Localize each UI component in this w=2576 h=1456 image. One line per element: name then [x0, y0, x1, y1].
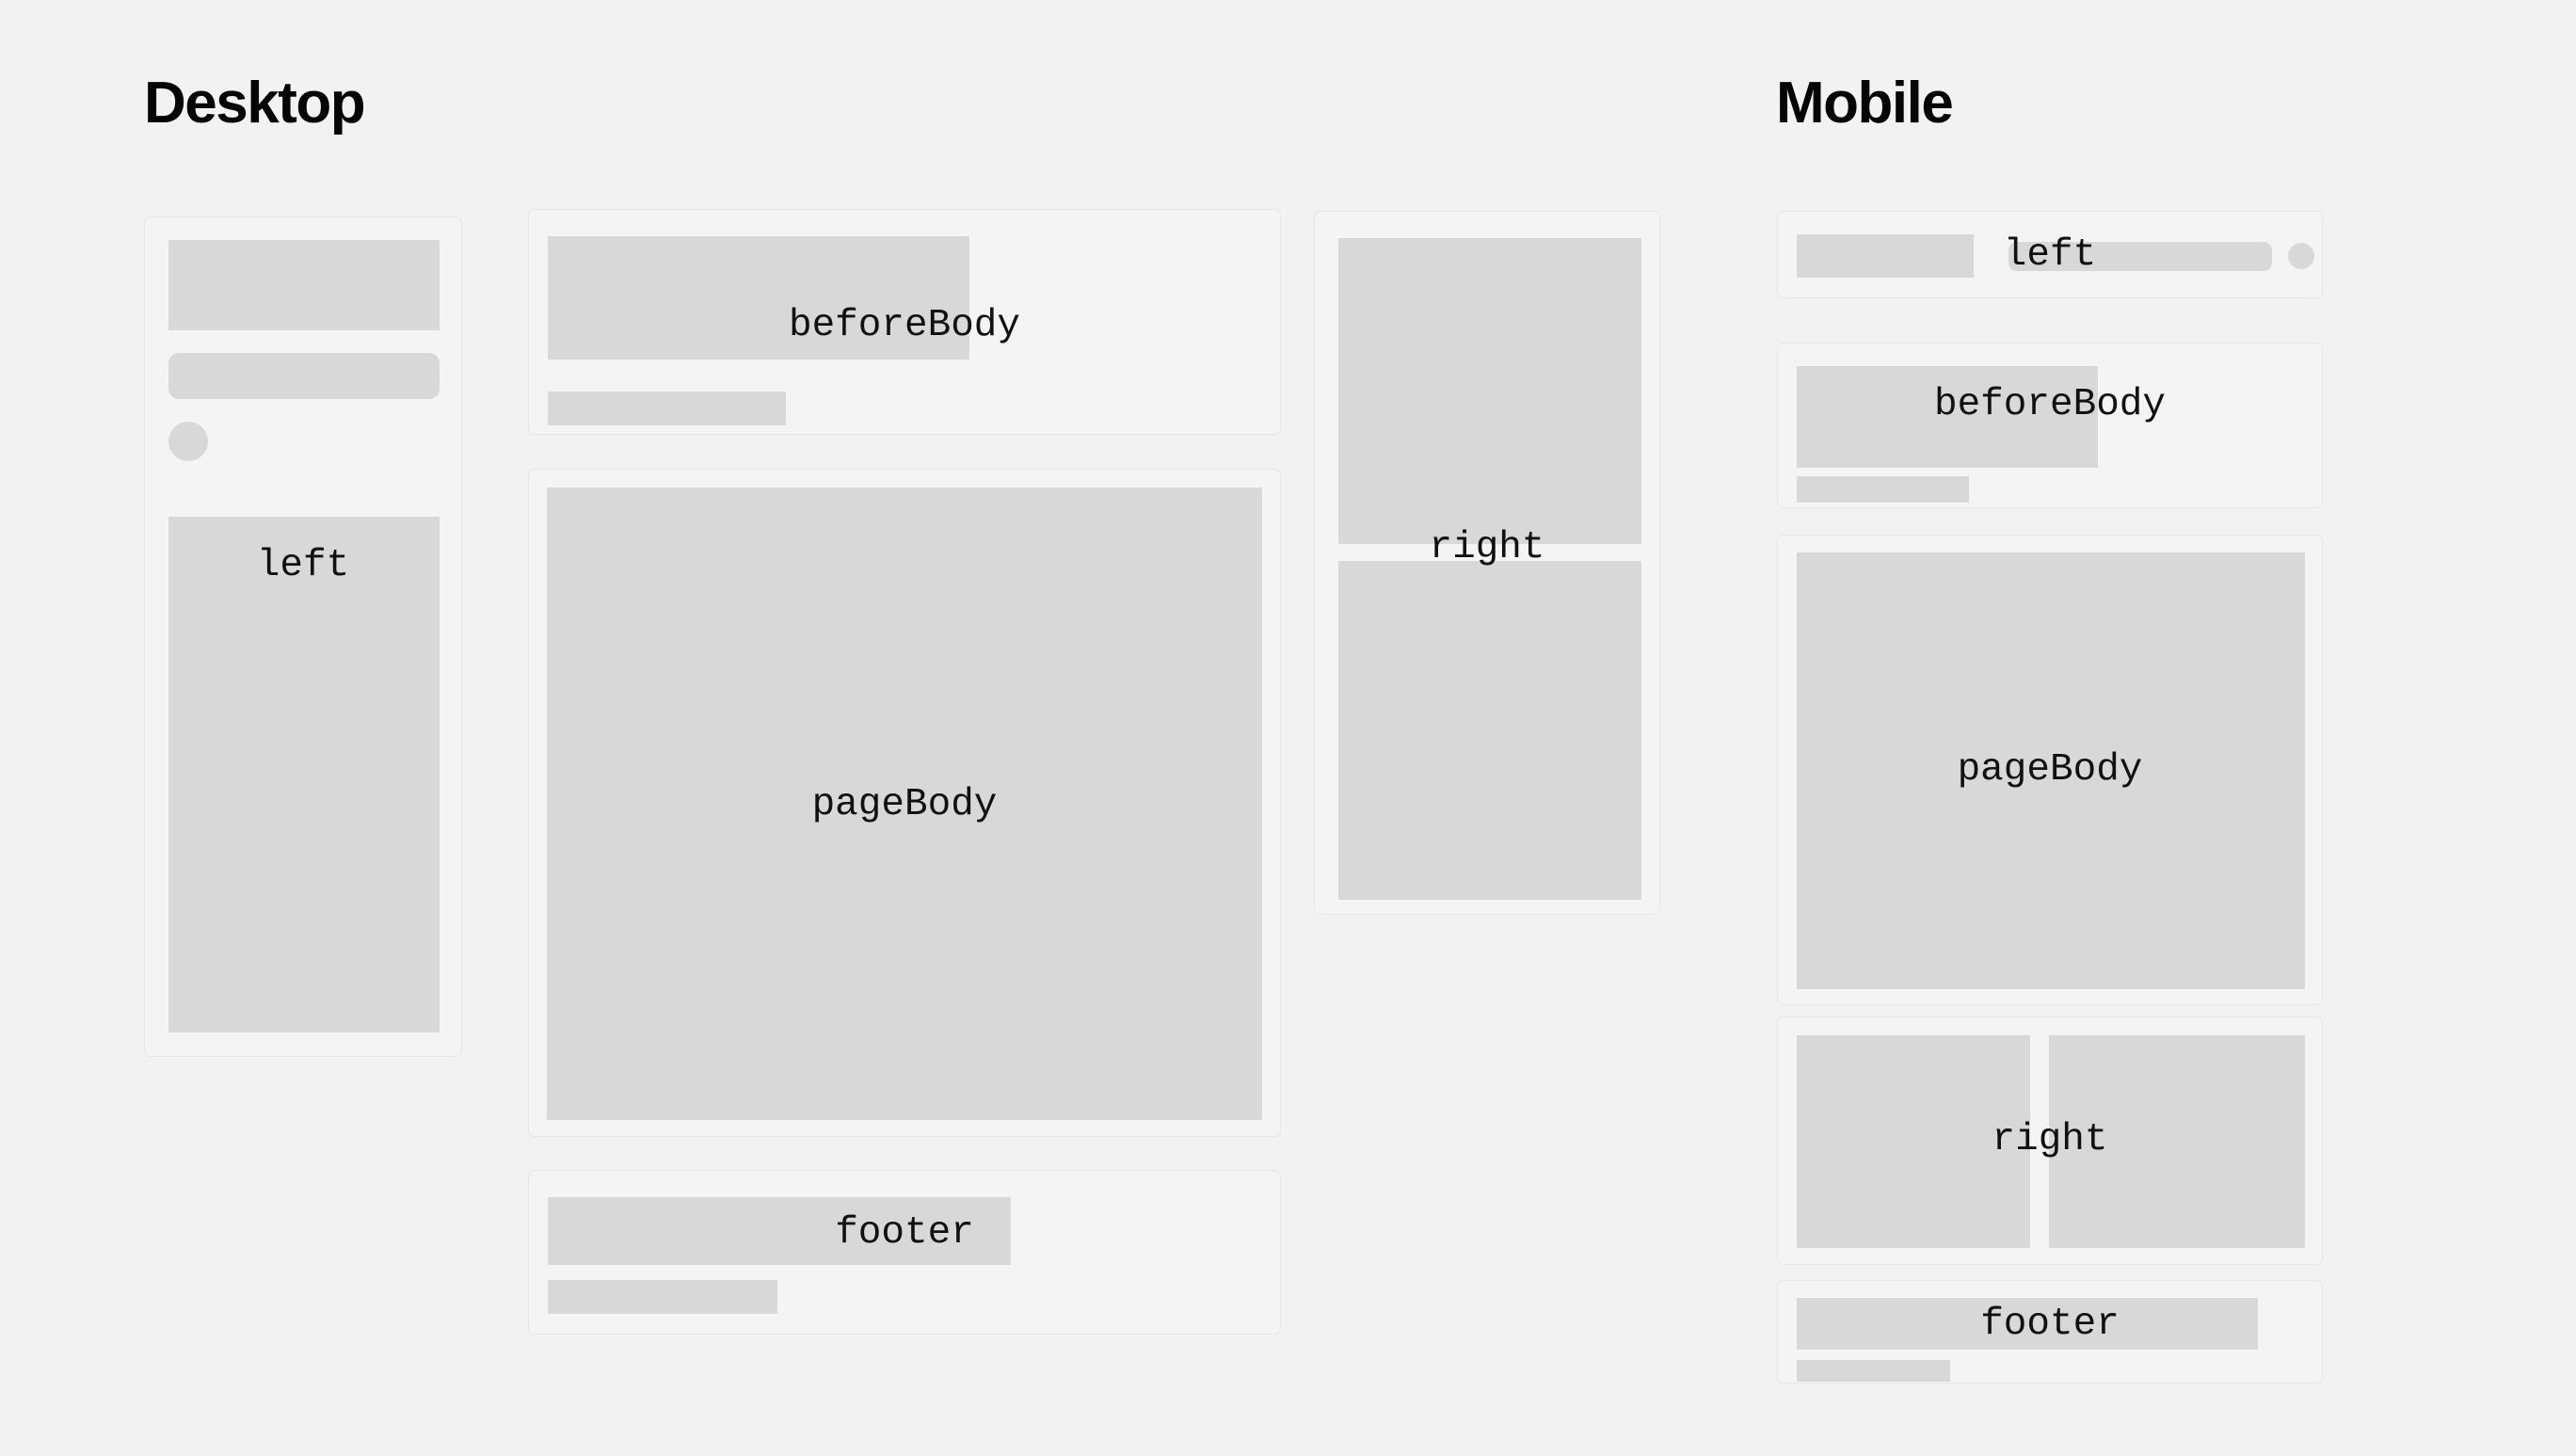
desktop-region-left[interactable]: [144, 216, 462, 1057]
desktop-region-footer[interactable]: [528, 1170, 1281, 1335]
mobile-footer-block-caption: [1797, 1360, 1950, 1382]
desktop-right-block-bottom: [1338, 561, 1641, 900]
layout-preview-canvas: Desktop left beforeBody pageBody right f…: [0, 0, 2576, 1456]
desktop-region-right[interactable]: [1314, 211, 1660, 915]
page-title-mobile: Mobile: [1776, 74, 1952, 133]
mobile-region-footer[interactable]: [1777, 1280, 2323, 1384]
mobile-footer-block-wide: [1797, 1298, 2258, 1350]
mobile-right-block-left: [1797, 1035, 2030, 1248]
mobile-pagebody-block-content: [1797, 552, 2305, 989]
desktop-region-pagebody[interactable]: [528, 469, 1281, 1137]
desktop-beforebody-block-caption: [548, 392, 786, 425]
mobile-beforebody-block-hero: [1797, 366, 2098, 468]
desktop-left-block-large: [168, 240, 440, 330]
desktop-footer-block-wide: [548, 1197, 1011, 1265]
page-title-desktop: Desktop: [144, 74, 364, 133]
desktop-left-block-panel: [168, 517, 440, 1032]
desktop-footer-block-caption: [548, 1280, 777, 1314]
mobile-region-beforebody[interactable]: [1777, 343, 2323, 508]
mobile-beforebody-block-caption: [1797, 476, 1969, 503]
mobile-left-block-bar: [2008, 242, 2272, 271]
mobile-region-pagebody[interactable]: [1777, 535, 2323, 1005]
mobile-region-left[interactable]: [1777, 211, 2323, 298]
desktop-left-block-bar: [168, 353, 440, 399]
desktop-region-beforebody[interactable]: [528, 209, 1281, 435]
mobile-region-right[interactable]: [1777, 1016, 2323, 1265]
desktop-beforebody-block-hero: [548, 236, 969, 360]
mobile-right-block-right: [2049, 1035, 2305, 1248]
mobile-left-block-avatar: [2288, 243, 2314, 269]
desktop-left-block-avatar: [168, 422, 208, 461]
desktop-right-block-top: [1338, 238, 1641, 544]
mobile-left-block-thumb: [1797, 234, 1974, 278]
desktop-pagebody-block-content: [547, 488, 1262, 1120]
